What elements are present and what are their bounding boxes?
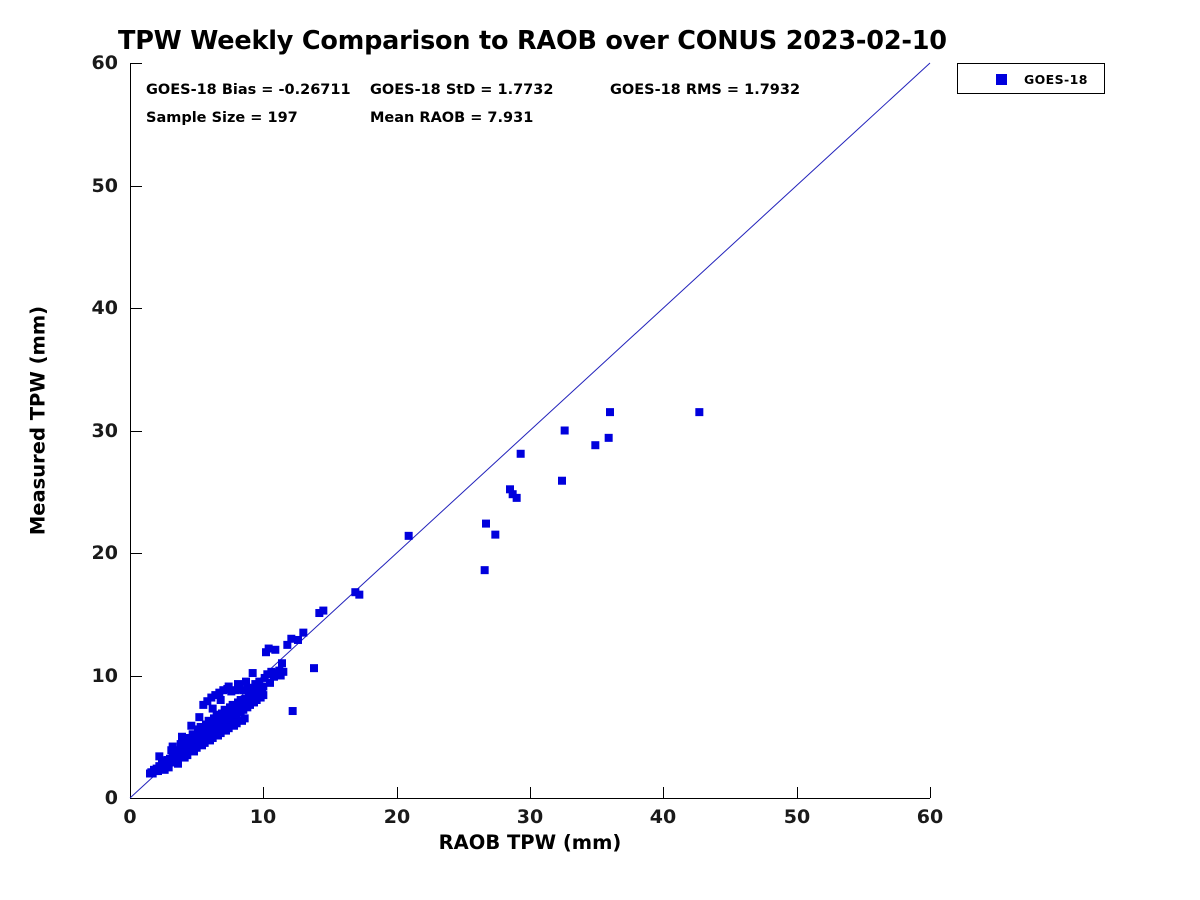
scatter-point [561, 427, 569, 435]
scatter-point [189, 730, 197, 738]
scatter-point [147, 768, 155, 776]
scatter-point [255, 685, 263, 693]
scatter-point [218, 709, 226, 717]
scatter-point [193, 744, 201, 752]
scatter-point [230, 713, 238, 721]
scatter-point [246, 692, 254, 700]
scatter-point [195, 713, 203, 721]
scatter-point [283, 641, 291, 649]
scatter-point [206, 722, 214, 730]
scatter-point [219, 686, 227, 694]
scatter-point [271, 646, 279, 654]
x-ticklabel-30: 30 [490, 806, 570, 828]
scatter-point [265, 645, 273, 653]
scatter-point [159, 762, 167, 770]
scatter-point [151, 767, 159, 775]
x-ticklabel-60: 60 [890, 806, 970, 828]
scatter-point [214, 721, 222, 729]
x-ticklabel-40: 40 [623, 806, 703, 828]
scatter-point [162, 761, 170, 769]
scatter-point [591, 441, 599, 449]
x-tick-30 [530, 787, 531, 798]
scatter-markers [146, 408, 703, 777]
scatter-point [247, 696, 255, 704]
y-axis-label: Measured TPW (mm) [27, 261, 50, 581]
scatter-point [227, 711, 235, 719]
scatter-point [202, 724, 210, 732]
scatter-point [207, 725, 215, 733]
scatter-point [183, 746, 191, 754]
scatter-point [491, 531, 499, 539]
x-tick-20 [397, 787, 398, 798]
scatter-point [695, 408, 703, 416]
scatter-point [173, 746, 181, 754]
y-ticklabel-40: 40 [58, 297, 118, 319]
scatter-point [185, 743, 193, 751]
scatter-point [194, 735, 202, 743]
scatter-point [190, 747, 198, 755]
scatter-point [213, 725, 221, 733]
scatter-point [163, 756, 171, 764]
scatter-point [239, 697, 247, 705]
scatter-point [279, 668, 287, 676]
scatter-point [233, 711, 241, 719]
scatter-point [153, 765, 161, 773]
scatter-point [221, 716, 229, 724]
scatter-point [195, 729, 203, 737]
scatter-point [258, 689, 266, 697]
scatter-point [231, 686, 239, 694]
scatter-data-layer [0, 0, 1200, 900]
stat-rms: GOES-18 RMS = 1.7932 [610, 82, 800, 98]
scatter-point [245, 691, 253, 699]
scatter-point [517, 450, 525, 458]
scatter-point [242, 678, 250, 686]
scatter-point [223, 718, 231, 726]
scatter-point [202, 721, 210, 729]
scatter-point [210, 714, 218, 722]
scatter-point [481, 566, 489, 574]
y-ticklabel-30: 30 [58, 420, 118, 442]
scatter-point [235, 700, 243, 708]
scatter-point [210, 728, 218, 736]
scatter-point [231, 708, 239, 716]
scatter-point [259, 683, 267, 691]
scatter-point [275, 667, 283, 675]
x-axis-line [130, 798, 930, 799]
scatter-point [273, 669, 281, 677]
scatter-point [198, 741, 206, 749]
scatter-point [263, 670, 271, 678]
scatter-point [235, 685, 243, 693]
scatter-point [219, 721, 227, 729]
scatter-point [226, 703, 234, 711]
y-tick-0 [131, 798, 142, 799]
scatter-point [237, 708, 245, 716]
scatter-point [266, 679, 274, 687]
y-ticklabel-50: 50 [58, 175, 118, 197]
scatter-point [197, 723, 205, 731]
scatter-point [183, 751, 191, 759]
x-ticklabel-20: 20 [357, 806, 437, 828]
scatter-point [186, 745, 194, 753]
scatter-point [201, 739, 209, 747]
scatter-point [233, 719, 241, 727]
scatter-point [241, 701, 249, 709]
scatter-point [245, 698, 253, 706]
scatter-point [165, 763, 173, 771]
scatter-point [277, 672, 285, 680]
scatter-point [243, 685, 251, 693]
scatter-point [262, 648, 270, 656]
scatter-point [170, 750, 178, 758]
scatter-point [251, 694, 259, 702]
scatter-point [178, 744, 186, 752]
scatter-point [247, 684, 255, 692]
scatter-point [207, 694, 215, 702]
scatter-point [315, 609, 323, 617]
page-title: TPW Weekly Comparison to RAOB over CONUS… [118, 26, 948, 56]
scatter-point [211, 691, 219, 699]
scatter-point [150, 766, 158, 774]
scatter-point [299, 629, 307, 637]
scatter-point [558, 477, 566, 485]
scatter-point [246, 701, 254, 709]
stat-mean-raob: Mean RAOB = 7.931 [370, 110, 533, 126]
scatter-point [146, 770, 154, 778]
scatter-point [239, 686, 247, 694]
scatter-point [175, 747, 183, 755]
scatter-point [165, 758, 173, 766]
x-tick-60 [930, 787, 931, 798]
y-ticklabel-60: 60 [58, 52, 118, 74]
scatter-point [161, 766, 169, 774]
x-tick-40 [663, 787, 664, 798]
scatter-point [218, 718, 226, 726]
scatter-point [217, 696, 225, 704]
scatter-point [219, 712, 227, 720]
scatter-point [181, 754, 189, 762]
scatter-point [193, 740, 201, 748]
y-ticklabel-10: 10 [58, 665, 118, 687]
scatter-point [310, 664, 318, 672]
scatter-point [181, 745, 189, 753]
stat-bias: GOES-18 Bias = -0.26711 [146, 82, 351, 98]
scatter-point [222, 727, 230, 735]
scatter-point [253, 696, 261, 704]
scatter-point [205, 717, 213, 725]
scatter-point [191, 738, 199, 746]
scatter-point [278, 659, 286, 667]
scatter-point [155, 762, 163, 770]
scatter-point [355, 591, 363, 599]
scatter-point [506, 485, 514, 493]
scatter-point [251, 680, 259, 688]
scatter-point [351, 588, 359, 596]
scatter-point [179, 749, 187, 757]
scatter-point [287, 635, 295, 643]
x-ticklabel-50: 50 [757, 806, 837, 828]
scatter-point [250, 698, 258, 706]
scatter-point [171, 750, 179, 758]
scatter-point [606, 408, 614, 416]
scatter-point [225, 713, 233, 721]
scatter-point [242, 695, 250, 703]
y-tick-40 [131, 308, 142, 309]
scatter-point [201, 730, 209, 738]
scatter-point [229, 705, 237, 713]
scatter-point [173, 754, 181, 762]
scatter-point [289, 707, 297, 715]
scatter-point [157, 763, 165, 771]
scatter-point [209, 734, 217, 742]
scatter-point [206, 730, 214, 738]
scatter-point [249, 690, 257, 698]
scatter-plot-figure: TPW Weekly Comparison to RAOB over CONUS… [0, 0, 1200, 900]
scatter-point [234, 698, 242, 706]
scatter-point [267, 668, 275, 676]
scatter-point [215, 689, 223, 697]
scatter-point [174, 760, 182, 768]
scatter-point [249, 669, 257, 677]
scatter-point [158, 757, 166, 765]
legend-marker-swatch-goes18 [996, 74, 1007, 85]
scatter-point [261, 674, 269, 682]
scatter-point [197, 736, 205, 744]
scatter-point [223, 685, 231, 693]
y-ticklabel-20: 20 [58, 542, 118, 564]
scatter-point [154, 767, 162, 775]
scatter-point [194, 725, 202, 733]
scatter-point [237, 696, 245, 704]
scatter-point [513, 494, 521, 502]
scatter-point [605, 434, 613, 442]
scatter-point [227, 687, 235, 695]
scatter-point [217, 723, 225, 731]
scatter-point [169, 743, 177, 751]
scatter-point [187, 722, 195, 730]
scatter-point [206, 736, 214, 744]
scatter-point [182, 739, 190, 747]
scatter-point [186, 736, 194, 744]
x-tick-0 [130, 787, 131, 798]
scatter-point [179, 741, 187, 749]
scatter-point [158, 760, 166, 768]
scatter-point [509, 490, 517, 498]
scatter-point [233, 702, 241, 710]
scatter-point [319, 607, 327, 615]
scatter-point [230, 722, 238, 730]
scatter-point [209, 719, 217, 727]
scatter-point [187, 740, 195, 748]
scatter-point [177, 752, 185, 760]
y-tick-20 [131, 553, 142, 554]
scatter-point [215, 714, 223, 722]
scatter-point [238, 717, 246, 725]
scatter-point [211, 723, 219, 731]
scatter-point [239, 706, 247, 714]
scatter-point [405, 532, 413, 540]
scatter-point [167, 757, 175, 765]
one-to-one-reference-line [130, 63, 930, 798]
x-ticklabel-10: 10 [223, 806, 303, 828]
scatter-point [482, 520, 490, 528]
scatter-point [255, 678, 263, 686]
scatter-point [170, 756, 178, 764]
scatter-point [190, 741, 198, 749]
y-tick-50 [131, 186, 142, 187]
scatter-point [149, 770, 157, 778]
scatter-point [238, 703, 246, 711]
y-tick-10 [131, 676, 142, 677]
scatter-point [185, 734, 193, 742]
x-axis-label: RAOB TPW (mm) [130, 831, 930, 854]
scatter-point [226, 707, 234, 715]
scatter-point [199, 734, 207, 742]
scatter-point [226, 716, 234, 724]
scatter-point [270, 673, 278, 681]
scatter-point [225, 724, 233, 732]
scatter-point [294, 636, 302, 644]
scatter-point [229, 701, 237, 709]
scatter-point [214, 732, 222, 740]
scatter-point [209, 705, 217, 713]
scatter-point [241, 714, 249, 722]
legend[interactable]: GOES-18 [957, 63, 1105, 94]
scatter-point [199, 727, 207, 735]
y-tick-60 [131, 63, 142, 64]
scatter-point [243, 703, 251, 711]
scatter-point [161, 757, 169, 765]
scatter-point [225, 683, 233, 691]
scatter-point [179, 738, 187, 746]
y-tick-30 [131, 431, 142, 432]
scatter-point [166, 755, 174, 763]
x-tick-50 [797, 787, 798, 798]
scatter-point [257, 694, 265, 702]
scatter-point [193, 732, 201, 740]
x-ticklabel-0: 0 [90, 806, 170, 828]
scatter-point [205, 728, 213, 736]
scatter-point [221, 706, 229, 714]
scatter-point [234, 680, 242, 688]
scatter-point [189, 734, 197, 742]
scatter-point [213, 717, 221, 725]
scatter-point [217, 729, 225, 737]
scatter-point [171, 758, 179, 766]
scatter-point [198, 733, 206, 741]
scatter-point [259, 691, 267, 699]
x-tick-10 [263, 787, 264, 798]
scatter-point [199, 701, 207, 709]
stat-std: GOES-18 StD = 1.7732 [370, 82, 553, 98]
scatter-point [203, 733, 211, 741]
scatter-point [234, 706, 242, 714]
scatter-point [178, 733, 186, 741]
scatter-point [253, 687, 261, 695]
legend-label-goes18: GOES-18 [1024, 72, 1088, 87]
scatter-point [213, 711, 221, 719]
scatter-point [203, 697, 211, 705]
scatter-point [222, 709, 230, 717]
scatter-point [167, 746, 175, 754]
scatter-point [254, 691, 262, 699]
scatter-point [177, 740, 185, 748]
scatter-point [174, 751, 182, 759]
scatter-point [155, 752, 163, 760]
stat-sample-size: Sample Size = 197 [146, 110, 298, 126]
scatter-point [169, 752, 177, 760]
